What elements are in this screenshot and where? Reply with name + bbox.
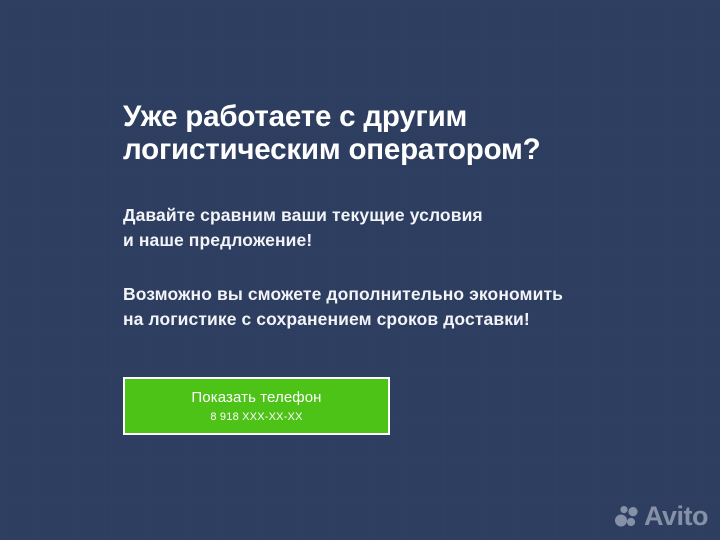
banner-content: Уже работаете с другим логистическим опе…: [123, 100, 623, 332]
body-paragraph-2: Возможно вы сможете дополнительно эконом…: [123, 282, 623, 332]
avito-logo-icon: [614, 503, 640, 529]
headline: Уже работаете с другим логистическим опе…: [123, 100, 623, 166]
avito-watermark: Avito: [614, 502, 708, 530]
promo-banner: Уже работаете с другим логистическим опе…: [0, 0, 720, 540]
body-paragraph-1: Давайте сравним ваши текущие условия и н…: [123, 203, 623, 253]
show-phone-button-label: Показать телефон: [191, 389, 321, 407]
phone-number-masked: 8 918 XXX-XX-XX: [210, 410, 302, 424]
show-phone-button[interactable]: Показать телефон 8 918 XXX-XX-XX: [123, 377, 390, 435]
avito-watermark-text: Avito: [644, 502, 708, 530]
